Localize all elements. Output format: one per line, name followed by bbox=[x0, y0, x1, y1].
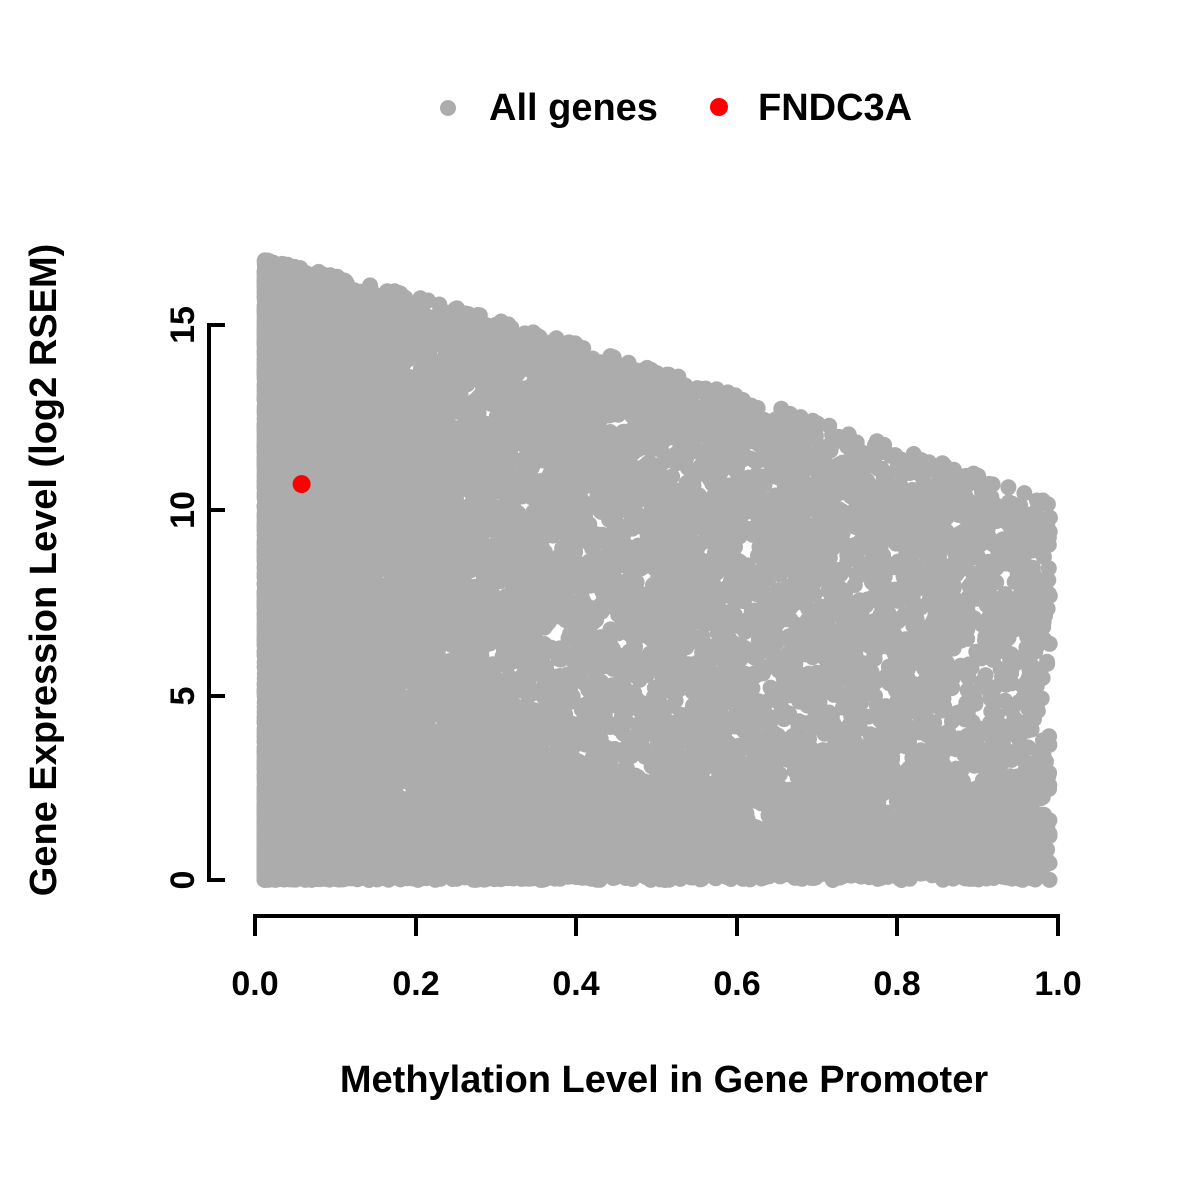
y-tick-label-15: 15 bbox=[164, 306, 202, 344]
y-axis-title: Gene Expression Level (log2 RSEM) bbox=[23, 244, 65, 897]
y-tick-label-0: 0 bbox=[164, 871, 202, 890]
legend-marker-all-genes bbox=[440, 100, 456, 116]
x-tick-label-0_0: 0.0 bbox=[231, 965, 278, 1003]
x-tick-label-1_0: 1.0 bbox=[1034, 965, 1081, 1003]
plot-canvas: 15 10 5 0 Gene Expression Level (log2 RS… bbox=[0, 0, 1200, 1200]
scatter-plot-figure: 15 10 5 0 Gene Expression Level (log2 RS… bbox=[0, 0, 1200, 1200]
x-tick-label-0_2: 0.2 bbox=[392, 965, 439, 1003]
legend-label-all-genes: All genes bbox=[489, 87, 658, 129]
x-tick-label-0_6: 0.6 bbox=[713, 965, 760, 1003]
legend-label-fndc3a: FNDC3A bbox=[758, 87, 912, 129]
y-tick-label-10: 10 bbox=[164, 491, 202, 529]
x-tick-label-0_4: 0.4 bbox=[552, 965, 599, 1003]
legend-marker-fndc3a bbox=[710, 98, 728, 116]
highlight-point-fndc3a[interactable] bbox=[293, 475, 311, 493]
x-axis-title: Methylation Level in Gene Promoter bbox=[340, 1059, 988, 1101]
x-tick-label-0_8: 0.8 bbox=[873, 965, 920, 1003]
y-tick-label-5: 5 bbox=[164, 687, 202, 706]
